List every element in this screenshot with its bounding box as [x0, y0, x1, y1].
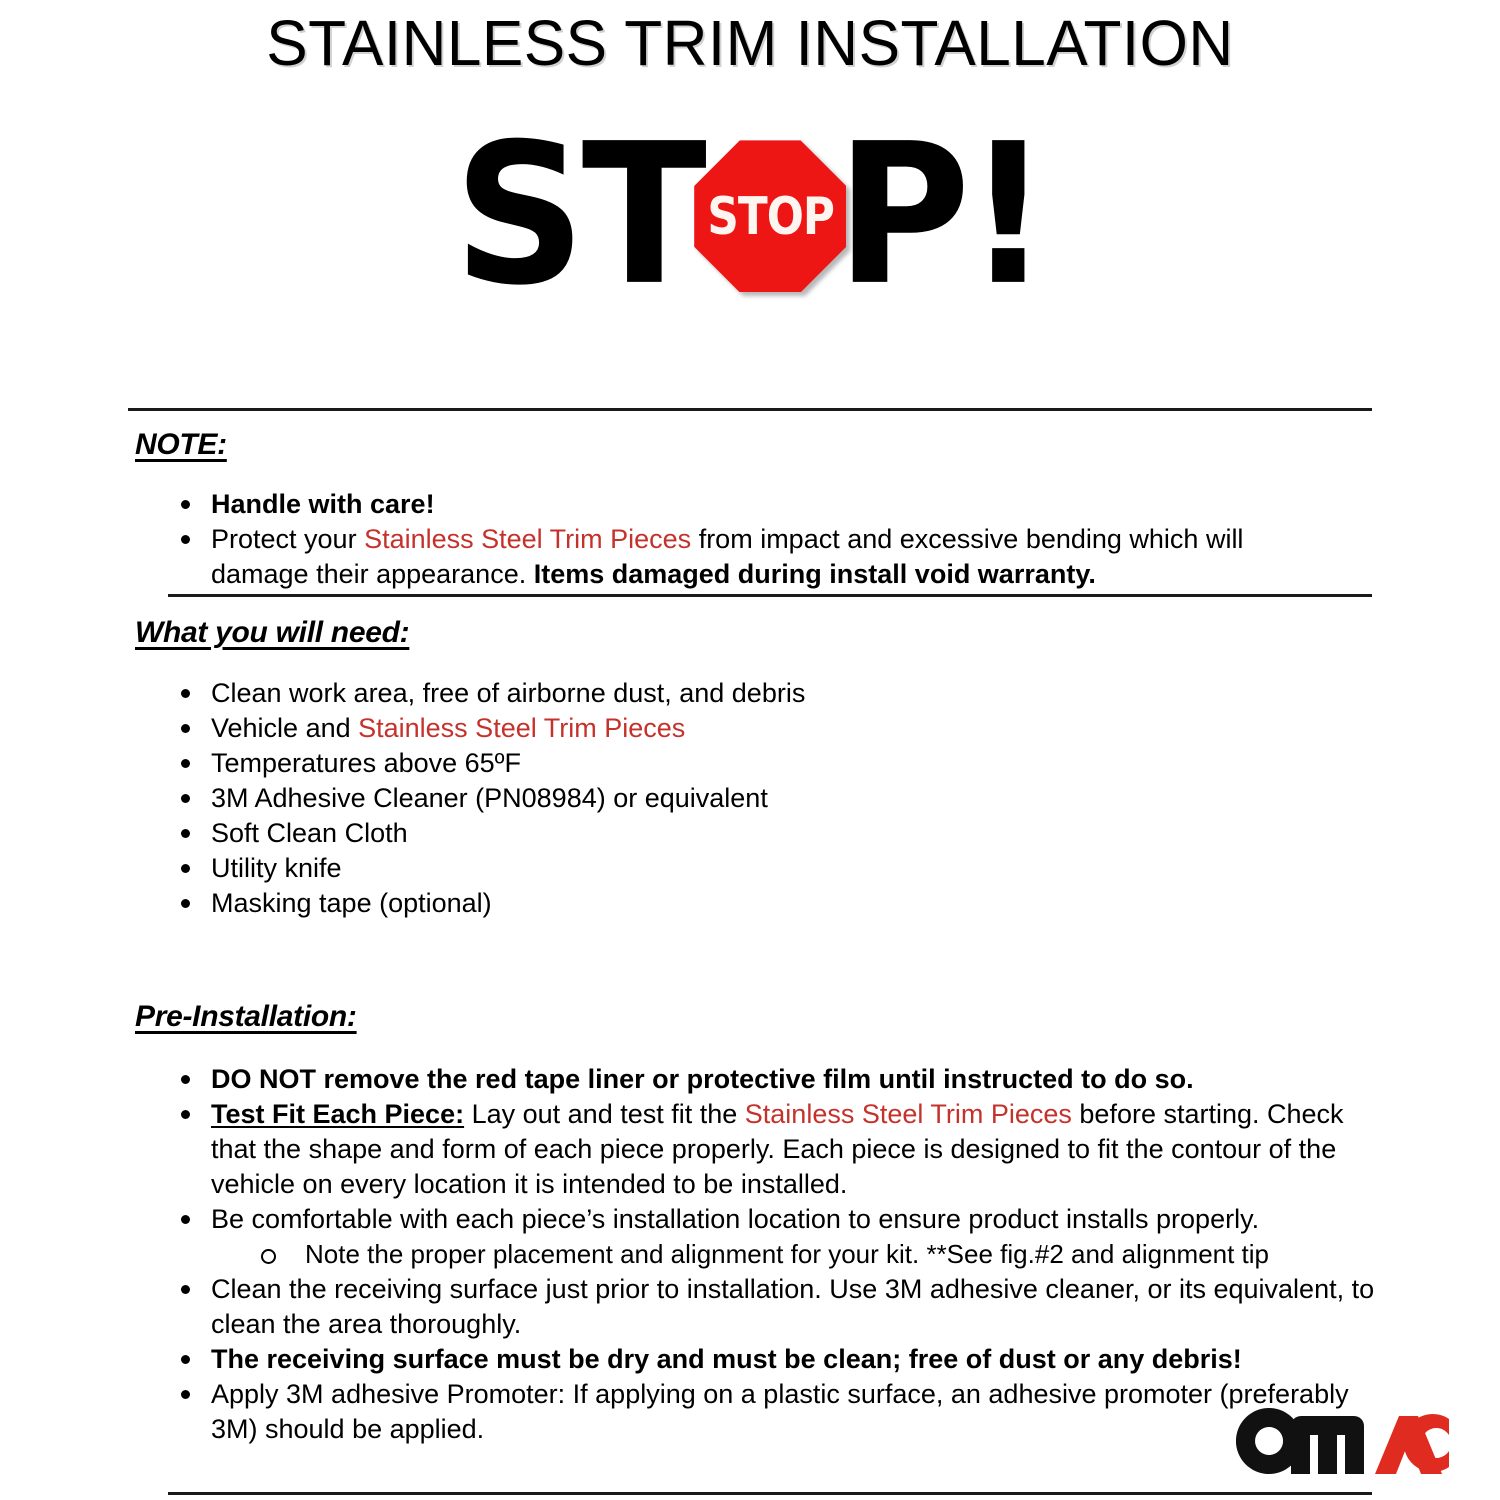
text-run: Apply 3M adhesive Promoter: If applying …: [211, 1379, 1349, 1444]
text-run: Be comfortable with each piece’s install…: [211, 1204, 1259, 1234]
stop-logo-left-letters: ST: [453, 119, 702, 313]
list-item: Masking tape (optional): [165, 886, 1265, 921]
text-emphasis-bold: The receiving surface must be dry and mu…: [211, 1344, 1242, 1374]
text-run: Clean the receiving surface just prior t…: [211, 1274, 1374, 1339]
list-item: Protect your Stainless Steel Trim Pieces…: [165, 522, 1345, 592]
list-item: Clean the receiving surface just prior t…: [165, 1272, 1395, 1342]
list-item: Test Fit Each Piece: Lay out and test fi…: [165, 1097, 1395, 1202]
text-emphasis-bold: Handle with care!: [211, 489, 435, 519]
what-you-will-need-list: Clean work area, free of airborne dust, …: [165, 676, 1265, 921]
stop-logo: ST STOP P!: [0, 126, 1500, 306]
text-run: Protect your: [211, 524, 364, 554]
divider-bottom: [168, 1492, 1372, 1495]
text-run: Masking tape (optional): [211, 888, 492, 918]
text-emphasis-bold: Items damaged during install void warran…: [534, 559, 1096, 589]
text-run: Vehicle and: [211, 713, 358, 743]
text-run: 3M Adhesive Cleaner (PN08984) or equival…: [211, 783, 768, 813]
text-run: Utility knife: [211, 853, 342, 883]
divider-top: [128, 408, 1372, 411]
list-item: Apply 3M adhesive Promoter: If applying …: [165, 1377, 1395, 1447]
heading-note: NOTE:: [135, 428, 227, 462]
text-run: Note the proper placement and alignment …: [305, 1239, 1269, 1269]
note-list: Handle with care!Protect your Stainless …: [165, 487, 1345, 592]
stop-logo-right-letters: P!: [836, 119, 1046, 313]
list-item: Temperatures above 65ºF: [165, 746, 1265, 781]
list-item: DO NOT remove the red tape liner or prot…: [165, 1062, 1395, 1097]
omac-logo-icon: [1236, 1408, 1468, 1474]
text-run: Lay out and test fit the: [464, 1099, 745, 1129]
text-run: Temperatures above 65ºF: [211, 748, 521, 778]
text-run: Clean work area, free of airborne dust, …: [211, 678, 805, 708]
list-item: 3M Adhesive Cleaner (PN08984) or equival…: [165, 781, 1265, 816]
text-highlight-red: Stainless Steel Trim Pieces: [745, 1099, 1072, 1129]
page-title: STAINLESS TRIM INSTALLATION: [23, 0, 1478, 78]
text-emphasis-bold: DO NOT remove the red tape liner or prot…: [211, 1064, 1194, 1094]
stop-sign-icon: STOP: [694, 140, 846, 292]
heading-pre-installation: Pre-Installation:: [135, 1000, 357, 1034]
list-item: The receiving surface must be dry and mu…: [165, 1342, 1395, 1377]
list-item: Utility knife: [165, 851, 1265, 886]
heading-what-you-will-need: What you will need:: [135, 616, 409, 650]
omac-letter-m: [1291, 1416, 1364, 1474]
list-item-sub: Note the proper placement and alignment …: [165, 1237, 1395, 1272]
omac-logo: [1236, 1408, 1468, 1474]
pre-installation-list: DO NOT remove the red tape liner or prot…: [165, 1062, 1395, 1447]
list-item: Clean work area, free of airborne dust, …: [165, 676, 1265, 711]
text-highlight-red: Stainless Steel Trim Pieces: [358, 713, 685, 743]
list-item: Vehicle and Stainless Steel Trim Pieces: [165, 711, 1265, 746]
stop-sign-label: STOP: [707, 186, 834, 246]
text-highlight-red: Stainless Steel Trim Pieces: [364, 524, 691, 554]
list-item: Be comfortable with each piece’s install…: [165, 1202, 1395, 1237]
text-run: Soft Clean Cloth: [211, 818, 408, 848]
text-emphasis-bold-underline: Test Fit Each Piece:: [211, 1099, 464, 1129]
divider-note: [168, 594, 1372, 597]
list-item: Soft Clean Cloth: [165, 816, 1265, 851]
list-item: Handle with care!: [165, 487, 1345, 522]
